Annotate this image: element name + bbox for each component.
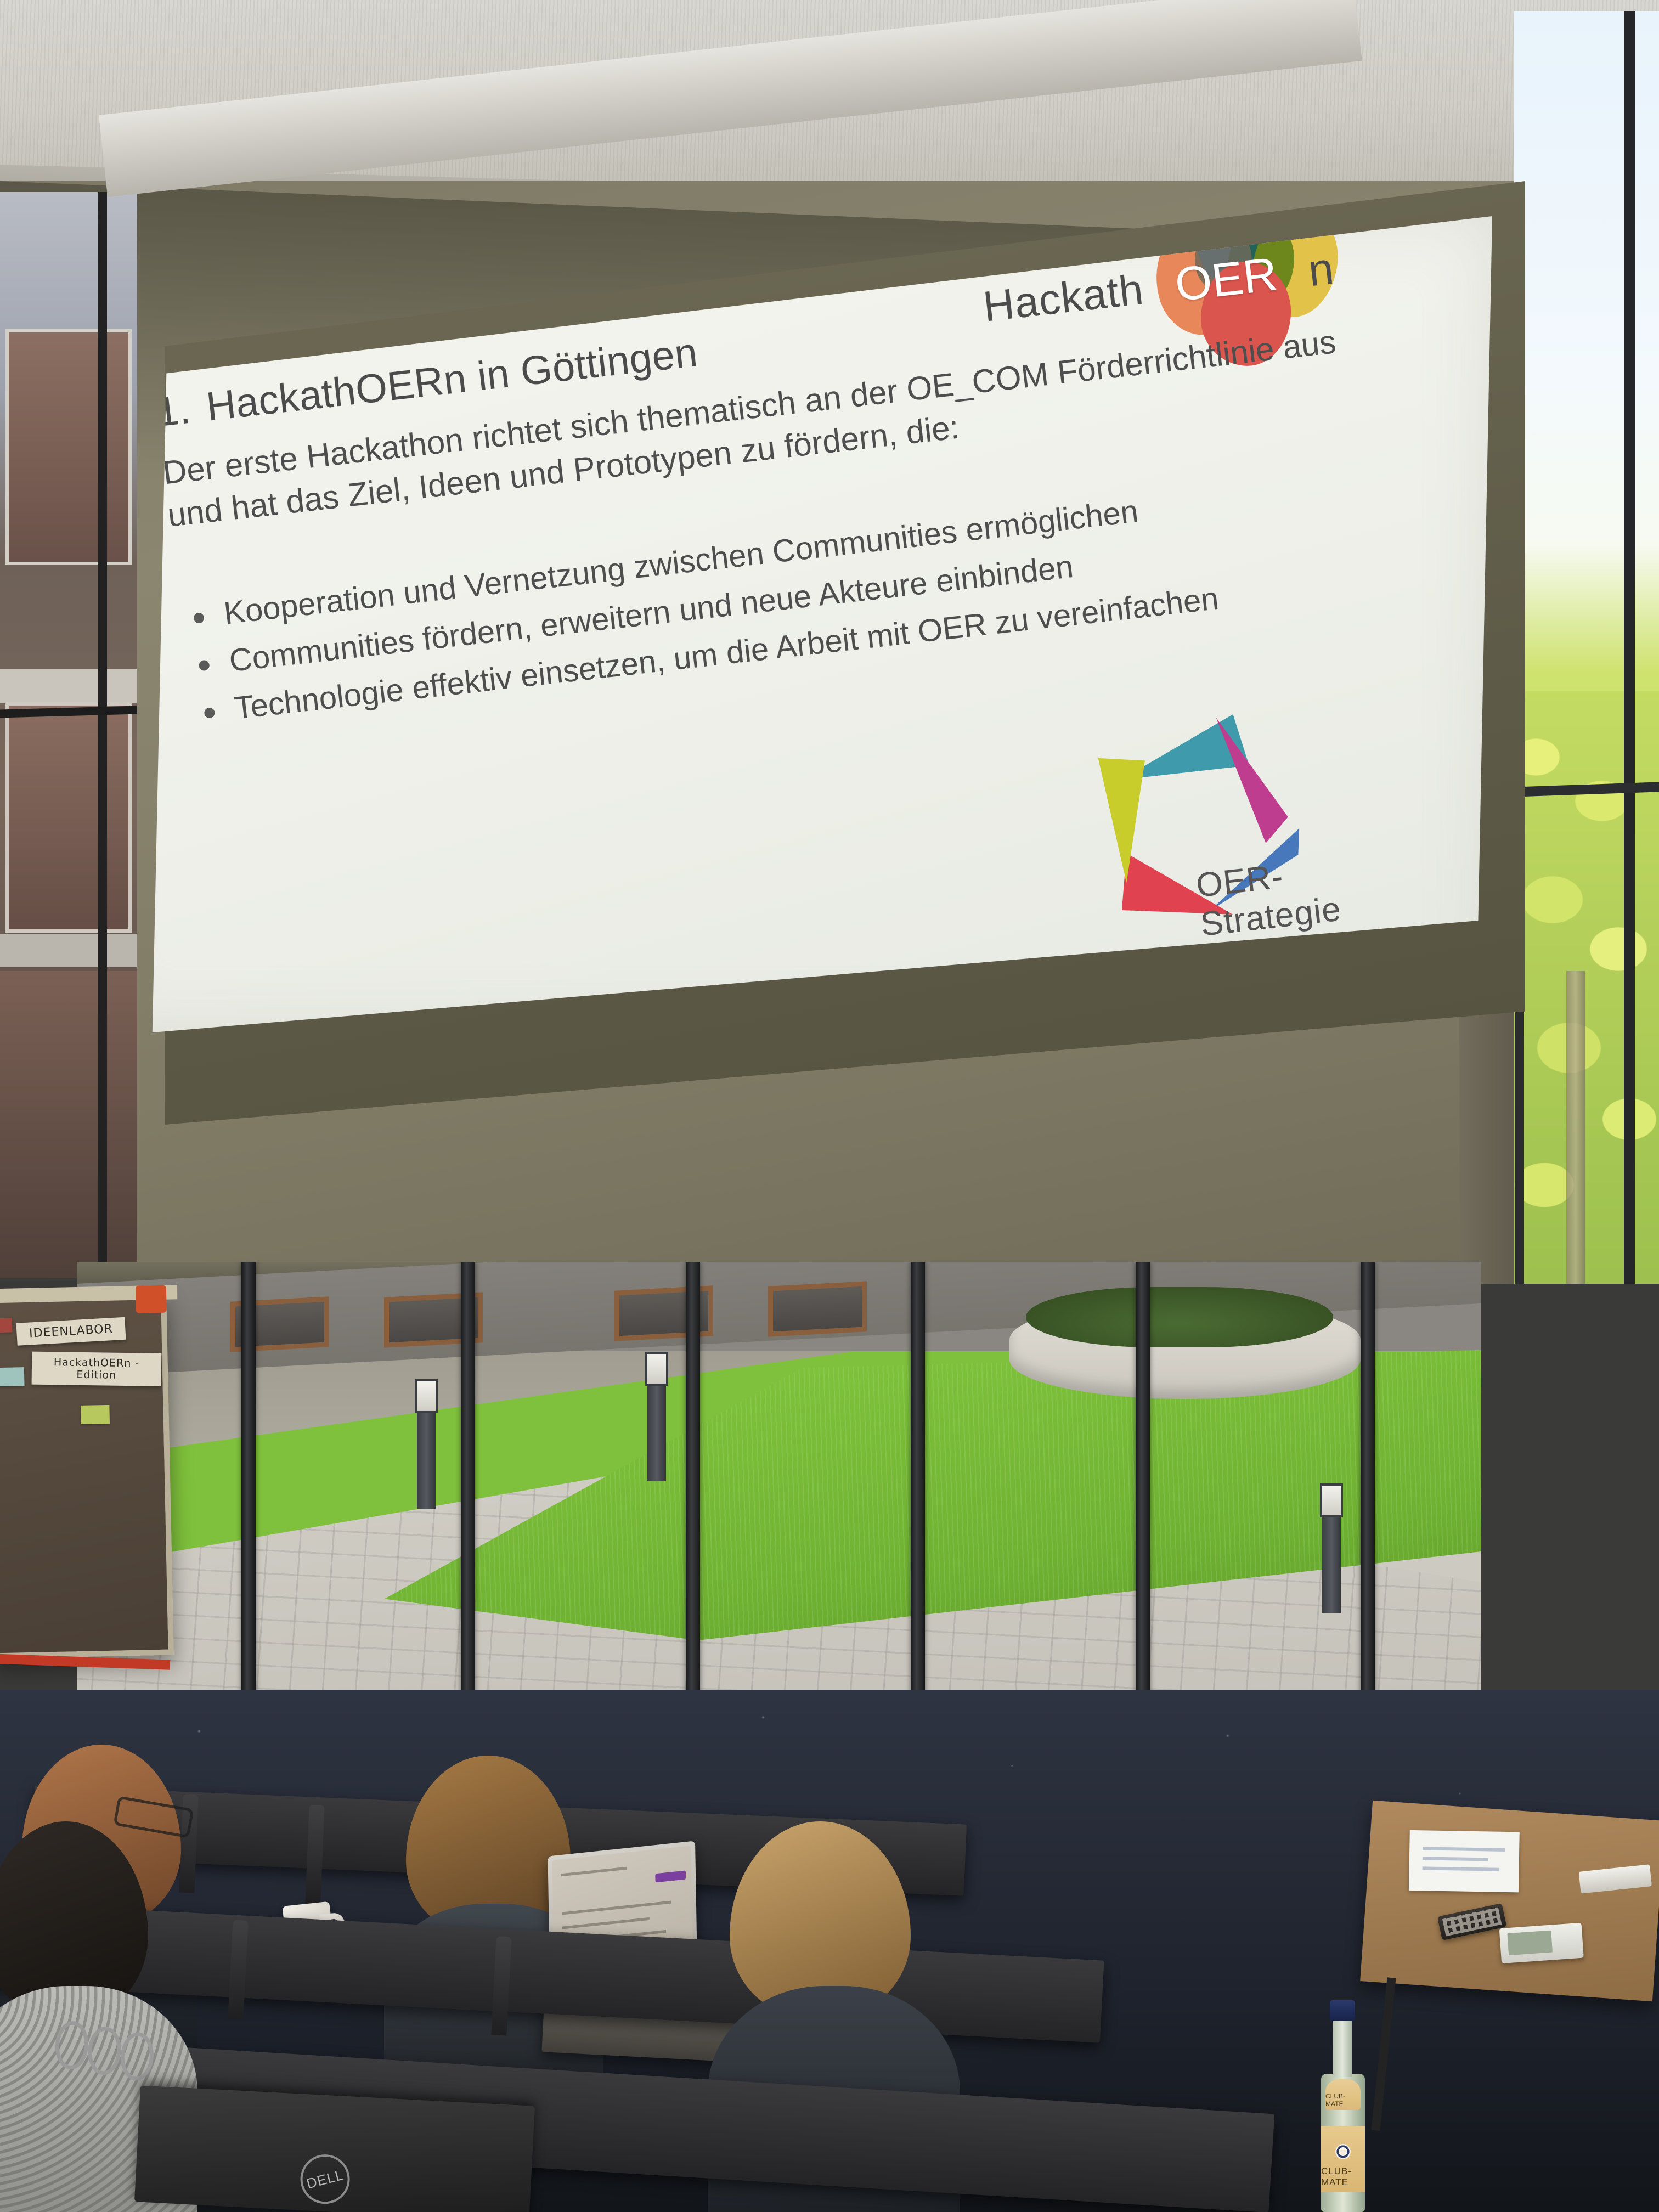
projection-screen: Hackath OER n 1.HackathOERn in Göttingen…: [165, 181, 1525, 1311]
paper-line: [1423, 1857, 1488, 1861]
bottle-label-emblem: [1335, 2144, 1351, 2159]
binder-ring: [54, 2020, 90, 2070]
club-mate-bottle: CLUB-MATE CLUB-MATE: [1317, 1997, 1369, 2212]
exterior-sill-lower: [0, 934, 137, 967]
bottle-neck-label: CLUB-MATE: [1325, 2079, 1361, 2110]
laptop-screen-line: [561, 1867, 627, 1877]
bollard-lamp: [1322, 1487, 1341, 1613]
laptop-screen-button: [655, 1870, 686, 1882]
ring-binder: [53, 2020, 183, 2089]
bollard-lamp: [417, 1383, 436, 1509]
lectern-table: [1360, 1801, 1659, 2001]
tree-foliage: [1514, 691, 1659, 1284]
remote-control[interactable]: [1437, 1903, 1507, 1940]
bottle-neck: [1333, 2017, 1352, 2077]
pinboard: IDEENLABOR HackathOERn - Edition: [0, 1293, 174, 1659]
sticky-note: [81, 1405, 110, 1424]
whiteboard-eraser: [1579, 1864, 1652, 1893]
logo-wordmark-prefix: Hackath: [981, 264, 1146, 332]
window-mullion-left: [98, 192, 107, 1278]
laptop-screen-line: [562, 1917, 650, 1929]
logo-wordmark-oer: OER: [1172, 247, 1280, 312]
pinboard-corner-cap: [136, 1285, 167, 1313]
bollard-lamp: [647, 1355, 666, 1481]
exterior-sill-upper: [0, 669, 137, 703]
window-mullion-right: [1624, 11, 1635, 1284]
handwritten-sign-edition: HackathOERn - Edition: [32, 1352, 162, 1386]
dell-logo: DELL: [295, 2149, 355, 2209]
right-window-wall: [1514, 11, 1659, 1284]
dell-laptop: DELL: [134, 2085, 535, 2212]
oer-strategie-logo: OER-Strategie: [1080, 694, 1412, 963]
laptop-screen-line: [562, 1901, 671, 1915]
oer-triangle-magenta: [1211, 710, 1291, 848]
bottle-cap: [1330, 2000, 1355, 2021]
control-panel-display: [1507, 1931, 1553, 1955]
binder-ring: [86, 2025, 122, 2076]
paper-line: [1423, 1866, 1499, 1871]
tree-trunk: [1566, 971, 1585, 1284]
paper-line: [1423, 1847, 1505, 1852]
exterior-facade-panel: [0, 971, 137, 1278]
exterior-window-lower: [5, 702, 132, 933]
photo-canvas: Hackath OER n 1.HackathOERn in Göttingen…: [0, 0, 1659, 2212]
handwritten-sign-ideenlabor: IDEENLABOR: [16, 1317, 126, 1346]
left-window-wall: [0, 192, 137, 1278]
bottle-label: CLUB-MATE: [1321, 2126, 1365, 2192]
sticky-note: [0, 1318, 12, 1333]
paper-sheet: [1409, 1830, 1520, 1892]
av-control-panel[interactable]: [1499, 1923, 1584, 1963]
sticky-note: [0, 1367, 25, 1386]
slide-content: Hackath OER n 1.HackathOERn in Göttingen…: [153, 243, 1427, 1000]
remote-keypad[interactable]: [1442, 1907, 1502, 1936]
exterior-window-upper: [5, 329, 132, 565]
binder-ring: [119, 2031, 155, 2081]
